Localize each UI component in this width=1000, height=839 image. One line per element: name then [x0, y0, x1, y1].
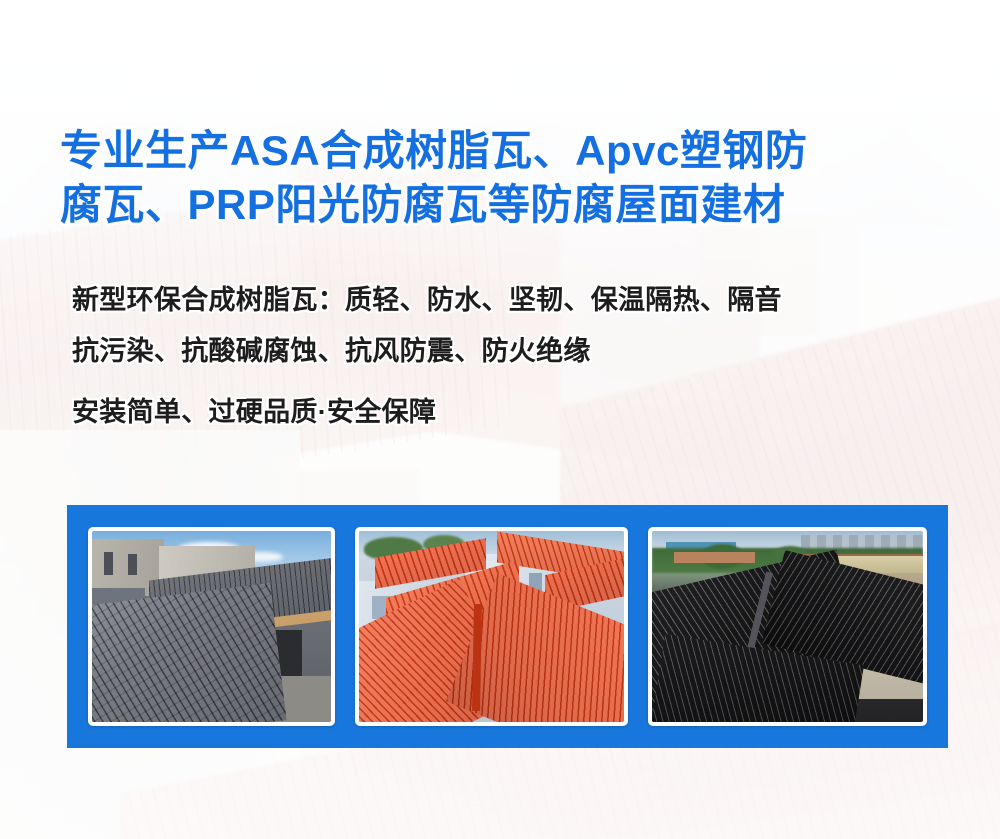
- product-promo-banner: 专业生产ASA合成树脂瓦、Apvc塑钢防 腐瓦、PRP阳光防腐瓦等防腐屋面建材 …: [0, 0, 1000, 839]
- gallery-photo-card-3[interactable]: [648, 527, 927, 726]
- banner-headline: 专业生产ASA合成树脂瓦、Apvc塑钢防 腐瓦、PRP阳光防腐瓦等防腐屋面建材: [60, 124, 950, 232]
- black-resin-tile-roof-photo: [652, 531, 923, 722]
- banner-content: 专业生产ASA合成树脂瓦、Apvc塑钢防 腐瓦、PRP阳光防腐瓦等防腐屋面建材 …: [0, 0, 1000, 839]
- grey-resin-tile-roof-photo: [92, 531, 331, 722]
- subhead-line-2: 抗污染、抗酸碱腐蚀、抗风防震、防火绝缘: [72, 326, 952, 377]
- gallery-photo-row: [88, 527, 927, 726]
- product-photo-gallery: [67, 505, 948, 748]
- red-resin-tile-roof-photo: [359, 531, 624, 722]
- gallery-photo-card-1[interactable]: [88, 527, 335, 726]
- subhead-line-1: 新型环保合成树脂瓦：质轻、防水、坚韧、保温隔热、隔音: [72, 275, 952, 326]
- gallery-photo-card-2[interactable]: [355, 527, 628, 726]
- banner-subheadline: 新型环保合成树脂瓦：质轻、防水、坚韧、保温隔热、隔音 抗污染、抗酸碱腐蚀、抗风防…: [72, 275, 952, 438]
- subhead-line-3: 安装简单、过硬品质·安全保障: [72, 387, 952, 438]
